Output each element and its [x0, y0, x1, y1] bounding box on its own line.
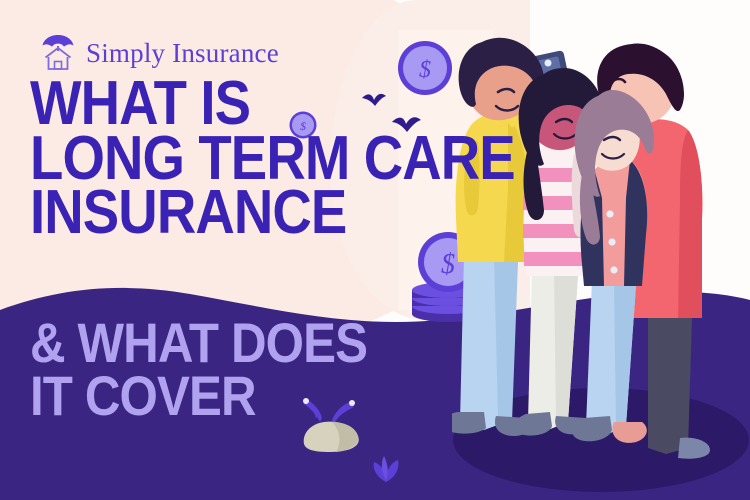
- subhead-line-1: & WHAT DOES: [30, 318, 367, 367]
- banner-root: Simply Insurance WHAT IS LONG TERM CARE …: [0, 0, 750, 500]
- umbrella-house-icon: [38, 33, 78, 73]
- subhead-block: & WHAT DOES IT COVER: [30, 318, 413, 425]
- sprout-icon: [366, 450, 406, 484]
- headline-block: WHAT IS LONG TERM CARE INSURANCE: [30, 78, 581, 242]
- headline-line-3: INSURANCE: [30, 187, 515, 240]
- subhead-line-2: IT COVER: [30, 371, 367, 420]
- brand-name: Simply Insurance: [86, 38, 279, 69]
- brand-logo[interactable]: Simply Insurance: [38, 33, 279, 73]
